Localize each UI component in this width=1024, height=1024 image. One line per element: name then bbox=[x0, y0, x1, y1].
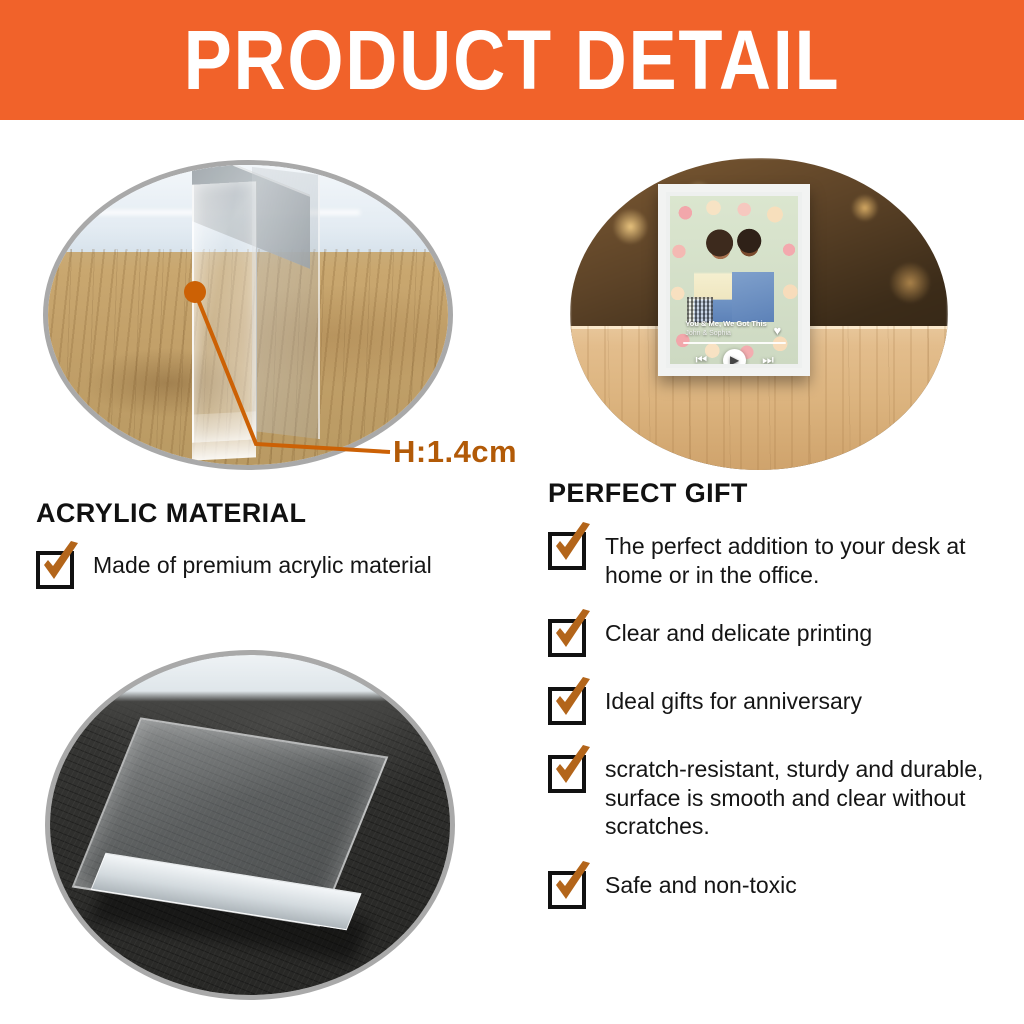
checkbox-icon bbox=[548, 619, 586, 657]
song-artist-text: John & Sophia bbox=[685, 330, 731, 337]
checkbox-icon bbox=[548, 532, 586, 570]
page-title: PRODUCT DETAIL bbox=[72, 0, 953, 120]
list-item-label: The perfect addition to your desk at hom… bbox=[605, 528, 1003, 589]
list-item: Clear and delicate printing bbox=[548, 615, 1003, 657]
previous-icon: ⏮ bbox=[695, 352, 707, 364]
plaque-artwork: You & Me, We Got This John & Sophia ♥ ⏮ … bbox=[670, 196, 798, 364]
list-item-label: Ideal gifts for anniversary bbox=[605, 683, 862, 716]
list-item-label: Made of premium acrylic material bbox=[93, 547, 432, 580]
list-item: scratch-resistant, sturdy and durable, s… bbox=[548, 751, 1003, 841]
player-controls: ⏮ ▶ ⏭ bbox=[683, 347, 787, 364]
song-title-text: You & Me, We Got This bbox=[685, 319, 766, 328]
checkbox-icon bbox=[36, 551, 74, 589]
heart-icon: ♥ bbox=[773, 324, 786, 337]
header-banner: PRODUCT DETAIL bbox=[0, 0, 1024, 120]
slate-top-highlight bbox=[50, 655, 450, 730]
section-title-perfect-gift: PERFECT GIFT bbox=[548, 478, 1003, 509]
checkbox-icon bbox=[548, 871, 586, 909]
checkbox-icon bbox=[548, 687, 586, 725]
checkbox-icon bbox=[548, 755, 586, 793]
next-icon: ⏭ bbox=[762, 352, 774, 364]
list-item: Made of premium acrylic material bbox=[36, 547, 516, 589]
play-icon: ▶ bbox=[723, 349, 746, 364]
plaque-photo: You & Me, We Got This John & Sophia ♥ ⏮ … bbox=[570, 158, 948, 470]
callout-dot bbox=[184, 281, 206, 303]
acrylic-front-face bbox=[192, 181, 257, 442]
acrylic-base-highlight bbox=[192, 411, 256, 460]
acrylic-slab-photo bbox=[45, 650, 455, 1000]
list-item-label: scratch-resistant, sturdy and durable, s… bbox=[605, 751, 1003, 841]
section-perfect-gift: PERFECT GIFT The perfect addition to you… bbox=[548, 478, 1003, 935]
acrylic-side-face bbox=[252, 167, 320, 439]
acrylic-edge-photo bbox=[43, 160, 453, 470]
list-item: Ideal gifts for anniversary bbox=[548, 683, 1003, 725]
acrylic-photo-plaque: You & Me, We Got This John & Sophia ♥ ⏮ … bbox=[658, 184, 810, 376]
list-item: The perfect addition to your desk at hom… bbox=[548, 528, 1003, 589]
section-title-acrylic-material: ACRYLIC MATERIAL bbox=[36, 498, 516, 529]
list-item: Safe and non-toxic bbox=[548, 867, 1003, 909]
section-acrylic-material: ACRYLIC MATERIAL Made of premium acrylic… bbox=[36, 498, 516, 589]
progress-bar bbox=[683, 342, 787, 344]
list-item-label: Clear and delicate printing bbox=[605, 615, 872, 648]
list-item-label: Safe and non-toxic bbox=[605, 867, 797, 900]
height-callout-label: H:1.4cm bbox=[393, 434, 517, 470]
